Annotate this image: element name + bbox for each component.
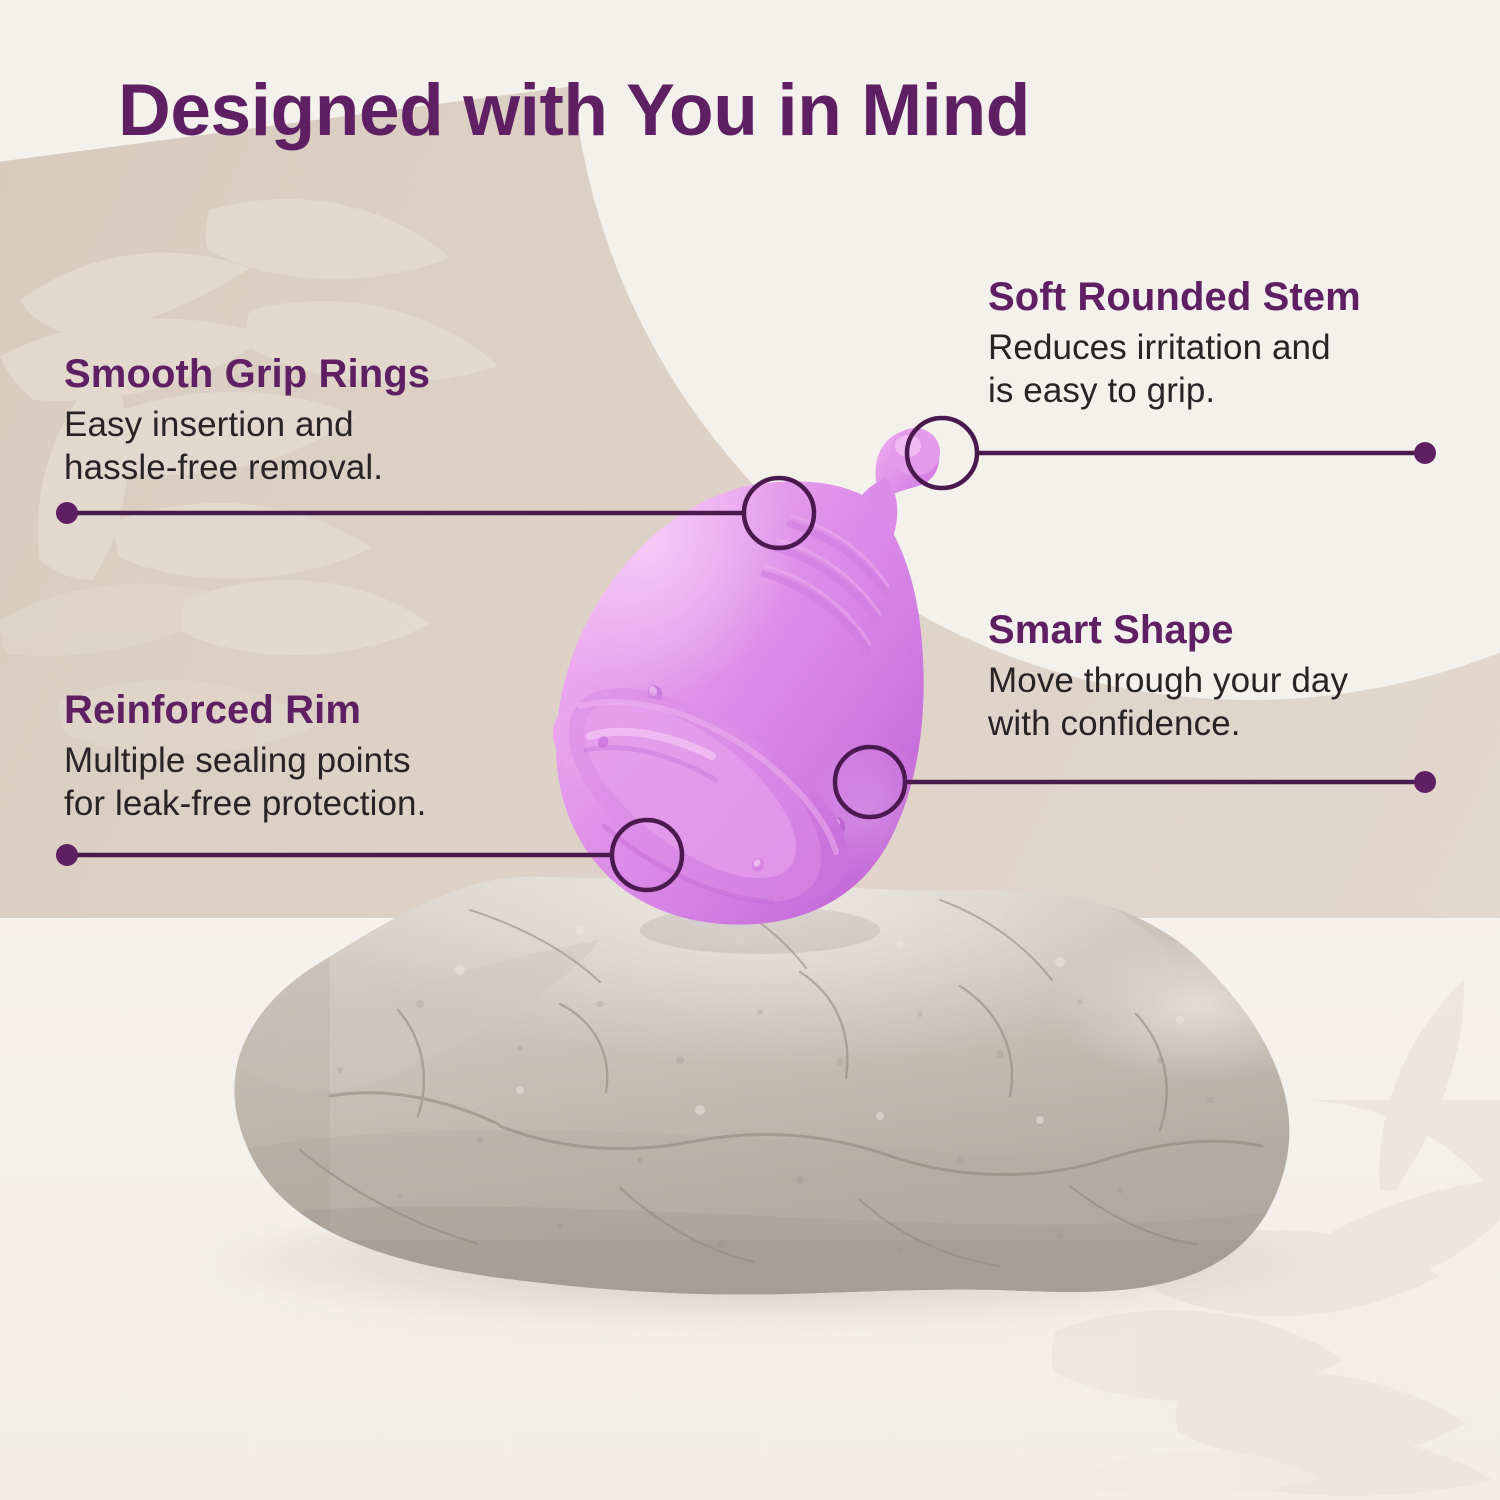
callout-title-reinforced-rim: Reinforced Rim xyxy=(64,688,426,732)
page-title: Designed with You in Mind xyxy=(118,74,1030,147)
infographic-canvas: Designed with You in Mind Smooth Grip Ri… xyxy=(0,0,1500,1500)
callout-body-line: with confidence. xyxy=(988,703,1348,746)
callout-circle-smooth-grip-rings xyxy=(744,478,814,548)
callout-title-smart-shape: Smart Shape xyxy=(988,608,1348,652)
callout-title-smooth-grip-rings: Smooth Grip Rings xyxy=(64,352,430,396)
callout-soft-rounded-stem: Soft Rounded Stem Reduces irritation and… xyxy=(988,275,1361,412)
callout-circle-smart-shape xyxy=(835,747,905,817)
callout-body-line: Reduces irritation and xyxy=(988,327,1361,370)
connector-dot-smooth-grip-rings xyxy=(56,502,78,524)
callout-body-line: Multiple sealing points xyxy=(64,740,426,783)
connector-dot-smart-shape xyxy=(1414,771,1436,793)
callout-body-line: Move through your day xyxy=(988,660,1348,703)
callout-body-line: hassle-free removal. xyxy=(64,447,430,490)
callout-circle-reinforced-rim xyxy=(612,820,682,890)
callout-smooth-grip-rings: Smooth Grip Rings Easy insertion and has… xyxy=(64,352,430,489)
callout-title-soft-rounded-stem: Soft Rounded Stem xyxy=(988,275,1361,319)
callout-body-line: for leak-free protection. xyxy=(64,783,426,826)
callout-body-smart-shape: Move through your day with confidence. xyxy=(988,660,1348,745)
callout-body-soft-rounded-stem: Reduces irritation and is easy to grip. xyxy=(988,327,1361,412)
callout-body-line: is easy to grip. xyxy=(988,370,1361,413)
callout-reinforced-rim: Reinforced Rim Multiple sealing points f… xyxy=(64,688,426,825)
callout-smart-shape: Smart Shape Move through your day with c… xyxy=(988,608,1348,745)
callout-body-reinforced-rim: Multiple sealing points for leak-free pr… xyxy=(64,740,426,825)
connector-dot-reinforced-rim xyxy=(56,844,78,866)
connector-dot-soft-rounded-stem xyxy=(1414,442,1436,464)
callout-body-smooth-grip-rings: Easy insertion and hassle-free removal. xyxy=(64,404,430,489)
callout-body-line: Easy insertion and xyxy=(64,404,430,447)
callout-circle-soft-rounded-stem xyxy=(907,418,977,488)
